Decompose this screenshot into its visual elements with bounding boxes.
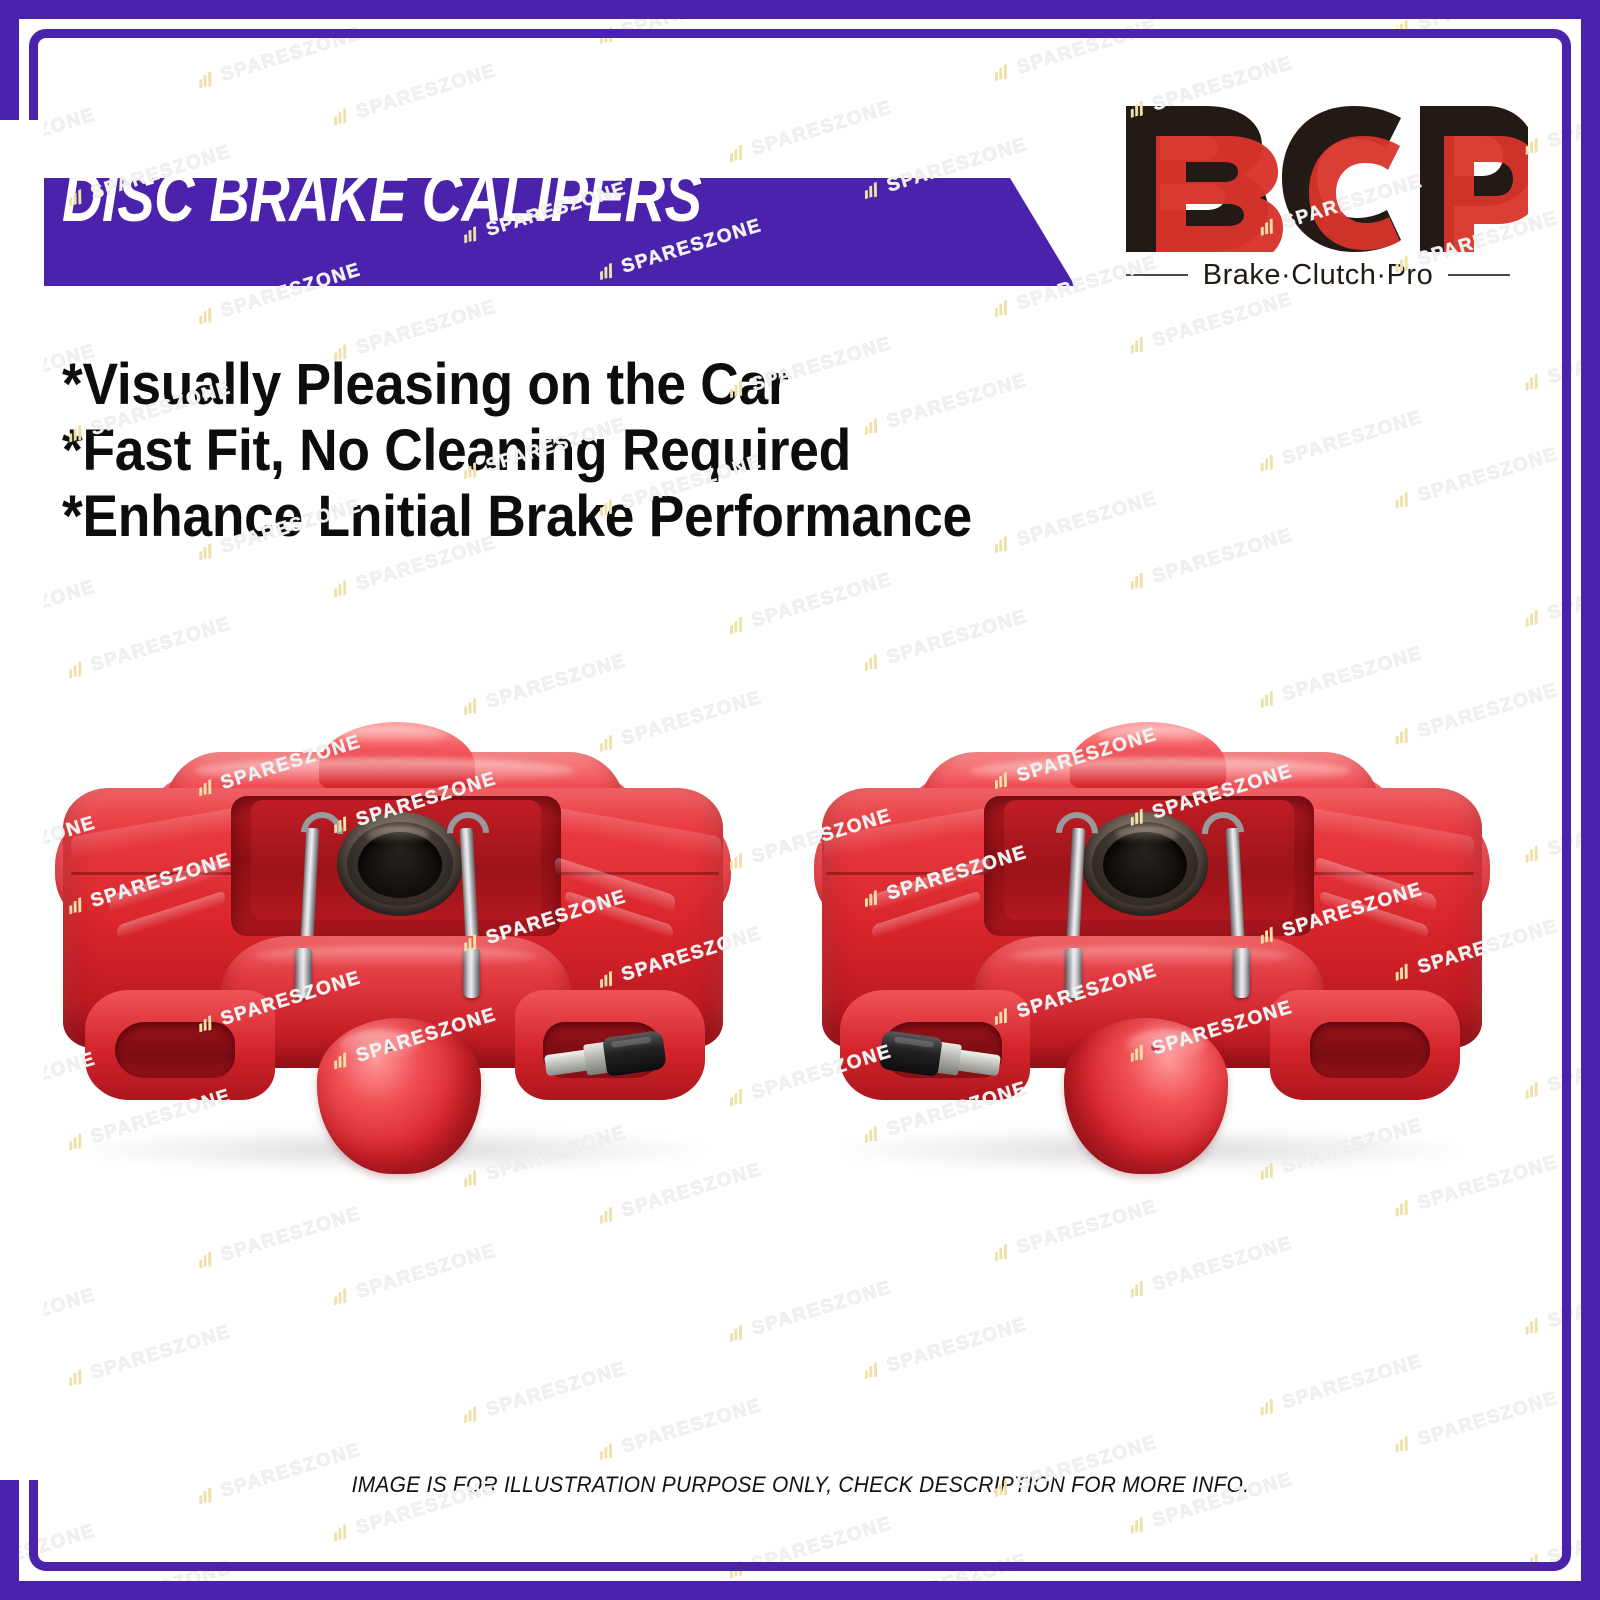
spareszone-mark-icon (992, 62, 1015, 82)
watermark-text: SPARESZONE (88, 1321, 234, 1385)
pin-stub (463, 948, 480, 998)
spareszone-mark-icon (332, 579, 355, 599)
feature-list: *Visually Pleasing on the Car *Fast Fit,… (62, 352, 1162, 550)
pin-stub (295, 948, 312, 998)
spareszone-mark-icon (727, 143, 750, 163)
spareszone-mark-icon (597, 25, 620, 45)
spareszone-mark-icon (1523, 608, 1546, 628)
watermark-unit: SPARESZONE (862, 606, 1031, 677)
spareszone-mark-icon (727, 1559, 750, 1579)
caliper-top-boss (1070, 722, 1226, 788)
watermark-text: SPARESZONE (619, 0, 765, 43)
feature-text: *Enhance Lnitial Brake Performance (62, 484, 972, 550)
spareszone-mark-icon (1393, 18, 1416, 38)
piston-cap-mark (1151, 1044, 1160, 1051)
feature-item: *Enhance Lnitial Brake Performance (62, 484, 1162, 550)
watermark-unit: SPARESZONE (1522, 326, 1600, 397)
watermark-text: SPARESZONE (1545, 562, 1600, 626)
caliper-top-boss (319, 722, 475, 788)
watermark-text: SPARESZONE (484, 1594, 630, 1600)
watermark-text: SPARESZONE (354, 60, 500, 124)
watermark-text: SPARESZONE (1415, 1388, 1561, 1452)
watermark-unit: SPARESZONE (726, 97, 895, 168)
watermark-unit: SPARESZONE (596, 0, 765, 50)
bcp-letters-icon (1108, 92, 1528, 252)
bcp-logo-mark (1108, 92, 1528, 252)
watermark-text: SPARESZONE (88, 613, 234, 677)
feature-text: *Visually Pleasing on the Car (62, 352, 788, 418)
spareszone-mark-icon (862, 1596, 885, 1600)
spareszone-mark-icon (992, 298, 1015, 318)
watermark-unit: SPARESZONE (1522, 1506, 1600, 1577)
bleed-nipple-dust-cap (602, 1030, 667, 1077)
watermark-text: SPARESZONE (1280, 407, 1426, 471)
spareszone-mark-icon (727, 1323, 750, 1343)
header-banner: DISC BRAKE CALIPERS (0, 178, 1075, 286)
bleed-nipple-dust-cap (878, 1030, 943, 1077)
bcp-logo-tagline-row: Brake·Clutch·Pro (1108, 252, 1528, 298)
watermark-unit: SPARESZONE (1257, 1351, 1426, 1422)
disclaimer-label: IMAGE IS FOR ILLUSTRATION PURPOSE ONLY, … (351, 1472, 1249, 1498)
piston-dust-cap (317, 1018, 481, 1174)
feature-item: *Fast Fit, No Cleaning Required (62, 418, 1162, 484)
piston-dust-cap (1064, 1018, 1228, 1174)
disclaimer-text: IMAGE IS FOR ILLUSTRATION PURPOSE ONLY, … (0, 1472, 1600, 1498)
watermark-text: SPARESZONE (885, 1314, 1031, 1378)
watermark-unit: SPARESZONE (1522, 90, 1600, 161)
banner-title: DISC BRAKE CALIPERS (62, 197, 861, 267)
watermark-unit: SPARESZONE (726, 1513, 895, 1584)
watermark-text: SPARESZONE (1415, 0, 1561, 35)
spareszone-mark-icon (462, 1405, 485, 1425)
watermark-text: SPARESZONE (749, 97, 895, 161)
watermark-unit: SPARESZONE (461, 0, 630, 13)
spareszone-mark-icon (1128, 1515, 1151, 1535)
spareszone-mark-icon (462, 0, 485, 8)
brake-caliper-left (45, 700, 745, 1180)
watermark-text: SPARESZONE (1545, 326, 1600, 390)
spareszone-mark-icon (196, 70, 219, 90)
spareszone-mark-icon (1523, 372, 1546, 392)
watermark-unit: SPARESZONE (195, 23, 364, 94)
watermark-unit: SPARESZONE (726, 569, 895, 640)
watermark-unit: SPARESZONE (596, 1395, 765, 1466)
watermark-text: SPARESZONE (0, 576, 99, 640)
spareszone-mark-icon (332, 107, 355, 127)
product-photo (0, 700, 1600, 1320)
logo-rule-right (1448, 274, 1510, 276)
watermark-text: SPARESZONE (354, 296, 500, 360)
banner-title-text: DISC BRAKE CALIPERS (62, 162, 702, 232)
spareszone-mark-icon (862, 1360, 885, 1380)
watermark-text: SPARESZONE (749, 569, 895, 633)
watermark-text: SPARESZONE (1545, 90, 1600, 154)
caliper-recess-left (1310, 1022, 1430, 1078)
watermark-unit: SPARESZONE (461, 1594, 630, 1600)
feature-text: *Fast Fit, No Cleaning Required (62, 418, 851, 484)
spareszone-mark-icon (597, 1441, 620, 1461)
watermark-text: SPARESZONE (885, 1550, 1031, 1600)
watermark-text: SPARESZONE (1545, 1506, 1600, 1570)
watermark-text: SPARESZONE (1015, 16, 1161, 80)
watermark-row: SPARESZONESPARESZONESPARESZONESPARESZONE… (0, 0, 1600, 31)
watermark-unit: SPARESZONE (461, 1358, 630, 1429)
bcp-logo: Brake·Clutch·Pro (1108, 92, 1528, 307)
watermark-text: SPARESZONE (885, 606, 1031, 670)
watermark-text: SPARESZONE (0, 104, 99, 168)
watermark-unit: SPARESZONE (1392, 0, 1561, 42)
watermark-text: SPARESZONE (88, 1557, 234, 1600)
watermark-text: SPARESZONE (218, 23, 364, 87)
spareszone-mark-icon (862, 652, 885, 672)
spareszone-mark-icon (66, 1368, 89, 1388)
piston-cap-mark (385, 1044, 394, 1051)
spareszone-mark-icon (1393, 490, 1416, 510)
watermark-text: SPARESZONE (1150, 525, 1296, 589)
logo-rule-left (1126, 274, 1188, 276)
watermark-unit: SPARESZONE (331, 60, 500, 131)
spareszone-mark-icon (1258, 1397, 1281, 1417)
watermark-text: SPARESZONE (484, 0, 630, 6)
watermark-unit: SPARESZONE (1522, 562, 1600, 633)
watermark-unit: SPARESZONE (1392, 1388, 1561, 1459)
brake-caliper-right (800, 700, 1500, 1180)
caliper-recess-left (115, 1022, 235, 1078)
watermark-text: SPARESZONE (619, 1395, 765, 1459)
spareszone-mark-icon (332, 1523, 355, 1543)
watermark-text: SPARESZONE (484, 1358, 630, 1422)
spareszone-mark-icon (66, 660, 89, 680)
watermark-text: SPARESZONE (1280, 643, 1426, 707)
spareszone-mark-icon (1523, 1552, 1546, 1572)
watermark-text: SPARESZONE (749, 1513, 895, 1577)
spareszone-mark-icon (196, 306, 219, 326)
watermark-row: SPARESZONESPARESZONESPARESZONESPARESZONE… (0, 1310, 1600, 1600)
feature-item: *Visually Pleasing on the Car (62, 352, 1162, 418)
spareszone-mark-icon (1393, 1434, 1416, 1454)
watermark-unit: SPARESZONE (0, 1520, 99, 1591)
spareszone-mark-icon (1258, 0, 1281, 1)
watermark-unit: SPARESZONE (0, 576, 99, 647)
watermark-unit: SPARESZONE (1257, 407, 1426, 478)
product-image-canvas: SPARESZONESPARESZONESPARESZONESPARESZONE… (0, 0, 1600, 1600)
watermark-text: SPARESZONE (1280, 1351, 1426, 1415)
piston-bore-highlight (367, 826, 429, 844)
watermark-row: SPARESZONESPARESZONESPARESZONESPARESZONE… (0, 1546, 1600, 1600)
pin-stub (1233, 948, 1250, 998)
bcp-logo-tagline: Brake·Clutch·Pro (1203, 259, 1433, 292)
spareszone-mark-icon (1128, 571, 1151, 591)
watermark-text: SPARESZONE (1280, 1587, 1426, 1600)
watermark-text: SPARESZONE (0, 1520, 99, 1584)
watermark-text: SPARESZONE (1415, 444, 1561, 508)
watermark-unit: SPARESZONE (65, 613, 234, 684)
watermark-unit: SPARESZONE (65, 1557, 234, 1600)
watermark-unit: SPARESZONE (992, 16, 1161, 87)
watermark-unit: SPARESZONE (862, 1314, 1031, 1385)
watermark-unit: SPARESZONE (1257, 0, 1426, 5)
piston-bore-highlight (1116, 826, 1178, 844)
watermark-unit: SPARESZONE (1257, 1587, 1426, 1600)
watermark-unit: SPARESZONE (0, 104, 99, 175)
pin-stub (1065, 948, 1082, 998)
watermark-unit: SPARESZONE (1392, 444, 1561, 515)
watermark-unit: SPARESZONE (65, 1321, 234, 1392)
watermark-unit: SPARESZONE (862, 1550, 1031, 1600)
spareszone-mark-icon (1258, 453, 1281, 473)
spareszone-mark-icon (727, 615, 750, 635)
